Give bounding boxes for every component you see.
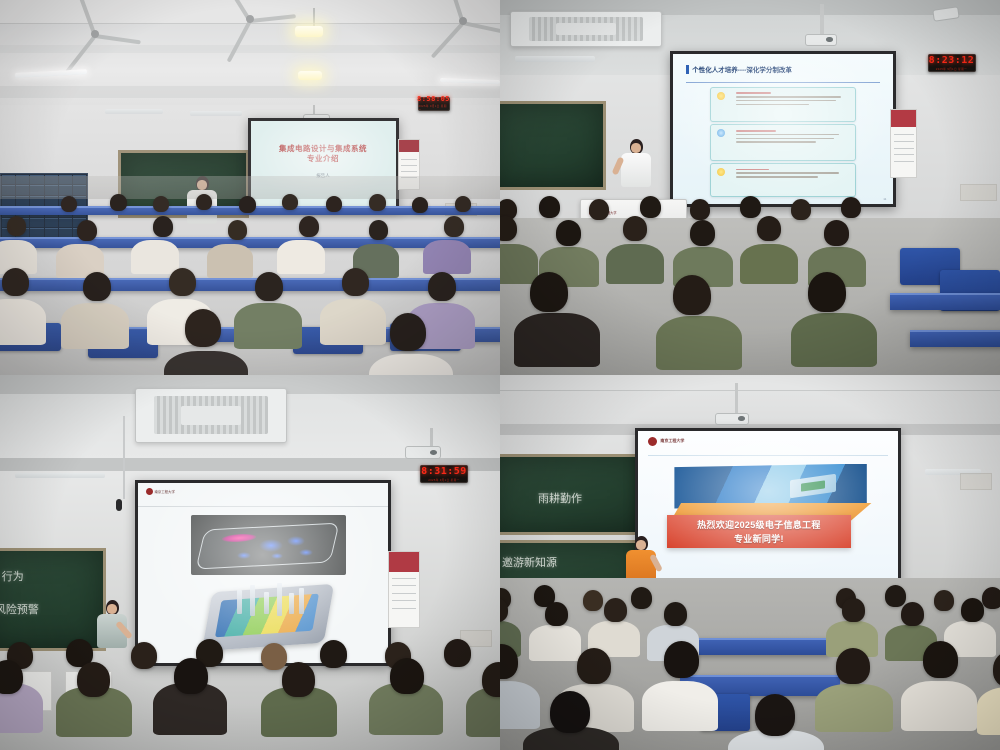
- slide-header: 个性化人才培养----深化学分制改革: [686, 64, 792, 74]
- bullet-text-lines: [736, 92, 848, 116]
- slide-divider: [138, 506, 388, 507]
- floor: [0, 176, 500, 199]
- slide-content: 南京工程大学: [138, 483, 388, 663]
- banner-line2: 专业新同学!: [734, 532, 784, 545]
- cord-handle: [116, 499, 122, 511]
- presenter-figure: [620, 139, 652, 181]
- lecture-hall-bottom-right: 雨耕勤作 邀游新知源 尚德教学 南京工程大学: [500, 375, 1000, 750]
- blackboard-icon: [500, 101, 606, 190]
- lightbulb-yellow-icon: [717, 168, 725, 176]
- slide-content: 个性化人才培养----深化学分制改革: [673, 54, 893, 204]
- audience: [0, 638, 500, 750]
- lecture-hall-top-right: 8:23:12 2025年 9月1日 星期一 个性化人才培养----深化学分制改…: [500, 0, 1000, 375]
- university-seal-icon: [648, 437, 657, 446]
- wall-sign: [960, 184, 997, 201]
- projector-arm: [820, 4, 824, 34]
- banner-line1: 热烈欢迎2025级电子信息工程: [697, 518, 821, 531]
- projector-arm: [735, 383, 738, 413]
- desk-row: [890, 293, 1000, 310]
- hero-image: [674, 464, 866, 509]
- slide-divider: [686, 82, 880, 83]
- slide-divider: [648, 455, 887, 456]
- audience: [0, 203, 500, 376]
- ac-cassette-icon: [510, 11, 662, 47]
- blackboard-icon: 雨耕勤作: [500, 454, 646, 535]
- pendant-light: [295, 26, 323, 37]
- led-clock-icon: 8:31:59 2025年 9月1日 星期一: [420, 465, 468, 483]
- ceiling-beam: [0, 45, 500, 53]
- fluorescent-tube: [105, 109, 163, 114]
- notice-poster: [890, 109, 917, 179]
- welcome-banner: 热烈欢迎2025级电子信息工程 专业新同学!: [667, 515, 852, 548]
- projector-icon: [805, 34, 837, 46]
- panel-bottom-left: 8:31:59 2025年 9月1日 星期一 行为 风险预警 南京工程大学: [0, 375, 500, 750]
- photo-collage: 8:58:05 2025年 9月1日 星期一 集成电路设计与集成系统 专业介绍 …: [0, 0, 1000, 750]
- thermal-simulation-render: [191, 515, 346, 574]
- blackboard-icon: 行为 风险预警: [0, 548, 106, 652]
- globe-blue-icon: [717, 129, 725, 137]
- chalk-text: 行为: [2, 568, 24, 584]
- projection-screen-icon: 南京工程大学 热烈欢迎2025级电子信息工程 专业新同学!: [635, 428, 901, 584]
- chalk-text: 风险预警: [0, 601, 39, 617]
- pull-cord: [123, 416, 125, 499]
- led-clock-icon: 8:58:05 2025年 9月1日 星期一: [418, 97, 450, 111]
- university-seal-icon: [146, 488, 153, 495]
- panel-top-left: 8:58:05 2025年 9月1日 星期一 集成电路设计与集成系统 专业介绍 …: [0, 0, 500, 375]
- slide-bullet-box: [710, 87, 855, 122]
- slide-title-line2: 专业介绍: [251, 153, 396, 164]
- chalk-text: 雨耕勤作: [538, 490, 582, 506]
- projector-icon: [715, 413, 749, 425]
- led-clock-icon: 8:23:12 2025年 9月1日 星期一: [928, 54, 976, 72]
- slide-logo: 南京工程大学: [648, 437, 684, 446]
- slide-logo: 南京工程大学: [146, 488, 175, 495]
- ceiling-fan-icon: [70, 23, 120, 45]
- projection-screen-icon: 个性化人才培养----深化学分制改革: [670, 51, 896, 207]
- desk-row: [910, 330, 1000, 347]
- slide-logo-text: 南京工程大学: [660, 438, 684, 444]
- projector-arm: [430, 428, 433, 447]
- lightbulb-yellow-icon: [717, 92, 725, 100]
- audience: [500, 203, 900, 376]
- pendant-light: [298, 71, 322, 80]
- slide-page-number: 11: [883, 197, 886, 201]
- lecture-hall-top-left: 8:58:05 2025年 9月1日 星期一 集成电路设计与集成系统 专业介绍 …: [0, 0, 500, 375]
- lecture-hall-bottom-left: 8:31:59 2025年 9月1日 星期一 行为 风险预警 南京工程大学: [0, 375, 500, 750]
- notice-poster: [388, 551, 420, 628]
- fluorescent-tube: [15, 473, 105, 478]
- ac-cassette-icon: [135, 388, 287, 443]
- ceiling-fan-icon: [225, 8, 275, 30]
- projector-icon: [405, 446, 441, 459]
- bullet-text-lines: [736, 130, 848, 156]
- panel-bottom-right: 雨耕勤作 邀游新知源 尚德教学 南京工程大学: [500, 375, 1000, 750]
- ceiling-fan-icon: [440, 11, 486, 31]
- slide-bullet-box: [710, 124, 855, 161]
- slide-content: 南京工程大学 热烈欢迎2025级电子信息工程 专业新同学!: [638, 431, 898, 581]
- bullet-text-lines: [736, 169, 848, 192]
- ceiling-slab: [500, 375, 1000, 391]
- fluorescent-tube: [190, 111, 242, 116]
- audience: [500, 585, 1000, 750]
- slide-logo-text: 南京工程大学: [155, 489, 175, 494]
- wall-sign: [960, 473, 992, 490]
- title-accent-bar: [686, 65, 689, 74]
- slide-title: 个性化人才培养----深化学分制改革: [692, 64, 792, 74]
- chip-graphic: [790, 474, 836, 498]
- chalk-text: 邀游新知源: [502, 554, 557, 570]
- presenter-figure: [625, 536, 657, 578]
- fluorescent-tube: [515, 56, 595, 62]
- panel-top-right: 8:23:12 2025年 9月1日 星期一 个性化人才培养----深化学分制改…: [500, 0, 1000, 375]
- slide-bullet-box: [710, 163, 855, 197]
